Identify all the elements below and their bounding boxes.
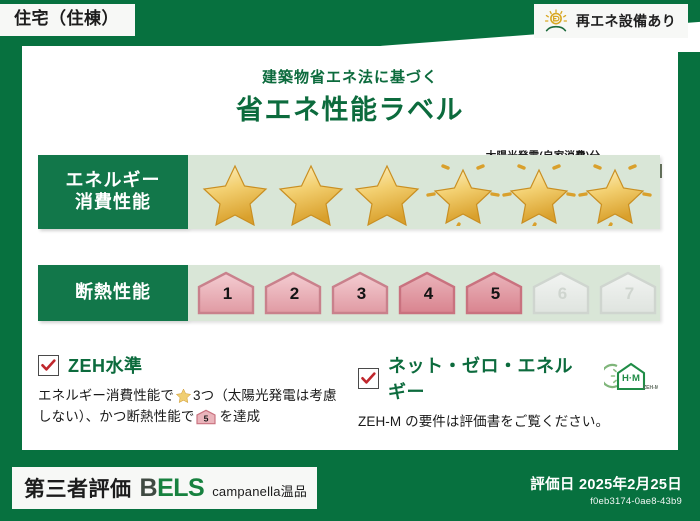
insulation-grade-6: 6 [531, 270, 594, 316]
insulation-performance-value-cell: 1 2 3 4 [188, 265, 660, 321]
evaluation-date: 評価日 2025年2月25日 [530, 473, 682, 494]
insulation-grade-scale: 1 2 3 4 [188, 270, 661, 316]
insulation-grade-7: 7 [598, 270, 661, 316]
checkbox-zeh-standard[interactable] [38, 355, 59, 376]
criterion-zeh-standard: ZEH水準 エネルギー消費性能で3つ（太陽光発電は考慮しない）、かつ断熱性能で5… [38, 352, 348, 428]
grade-number: 3 [330, 284, 393, 304]
bels-logo-b: B [140, 474, 158, 502]
svg-text:5: 5 [204, 413, 209, 423]
criterion-zeh-header: ZEH水準 [38, 352, 348, 378]
energy-key-line2: 消費性能 [66, 192, 161, 214]
grade-number: 2 [263, 284, 326, 304]
insulation-grade-4: 4 [397, 270, 460, 316]
renewable-badge-label: 再エネ設備あり [576, 11, 676, 31]
star-6-solar [578, 158, 652, 226]
star-5-solar [502, 158, 576, 226]
star-2 [274, 158, 348, 226]
star-rating [188, 158, 652, 226]
criterion-nze-title: ネット・ゼロ・エネルギー [388, 352, 591, 404]
zeh-desc-post: を達成 [219, 409, 260, 424]
energy-performance-label-cell: エネルギー 消費性能 [38, 155, 188, 229]
criterion-zeh-description: エネルギー消費性能で3つ（太陽光発電は考慮しない）、かつ断熱性能で5を達成 [38, 386, 348, 428]
star-3 [350, 158, 424, 226]
insulation-grade-5: 5 [464, 270, 527, 316]
check-icon [41, 359, 56, 372]
third-party-label: 第三者評価 [24, 473, 132, 503]
insulation-grade-3: 3 [330, 270, 393, 316]
label-subtitle: 建築物省エネ法に基づく [0, 66, 700, 87]
owner-name: campanella温品 [212, 481, 307, 500]
checkbox-net-zero-energy[interactable] [358, 368, 379, 389]
grade-number: 5 [464, 284, 527, 304]
bels-logo: BELS [140, 474, 205, 503]
grade-number: 1 [196, 284, 259, 304]
grade-number: 6 [531, 284, 594, 304]
inline-star-icon [175, 387, 192, 403]
energy-performance-label: 住宅（住棟） 再エネ設備あり 建築物省エネ法に基づく 省エネ性能ラベル 太陽光発… [0, 0, 700, 521]
energy-performance-value-cell [188, 155, 660, 229]
grade-number: 4 [397, 284, 460, 304]
bels-logo-els: ELS [157, 474, 204, 502]
sun-solar-icon [543, 9, 569, 33]
zeh-m-logo-caption: ZEH-M [643, 385, 658, 391]
evaluation-meta: 評価日 2025年2月25日 f0eb3174-0ae8-43b9 [530, 473, 682, 507]
star-4-solar [426, 158, 500, 226]
evaluation-date-value: 2025年2月25日 [579, 477, 682, 493]
insulation-grade-1: 1 [196, 270, 259, 316]
grade-number: 7 [598, 284, 661, 304]
criterion-nze-description: ZEH-M の要件は評価書をご覧ください。 [358, 412, 658, 433]
building-type-label: 住宅（住棟） [14, 9, 119, 28]
criterion-net-zero-energy: ネット・ゼロ・エネルギー H·M ZEH-M ZEH-M の要件は評価書をご覧く… [358, 352, 658, 433]
check-icon [361, 372, 376, 385]
star-1 [198, 158, 272, 226]
energy-key-line1: エネルギー [66, 170, 161, 192]
criterion-nze-header: ネット・ゼロ・エネルギー H·M ZEH-M [358, 352, 658, 404]
evaluation-date-label: 評価日 [530, 477, 574, 493]
renewable-equipment-badge: 再エネ設備あり [534, 4, 688, 38]
energy-performance-row: エネルギー 消費性能 [38, 155, 660, 229]
evaluation-uid: f0eb3174-0ae8-43b9 [530, 496, 682, 507]
criterion-zeh-title: ZEH水準 [68, 352, 143, 378]
insulation-grade-2: 2 [263, 270, 326, 316]
insulation-performance-label-cell: 断熱性能 [38, 265, 188, 321]
zeh-m-logo-text: H·M [622, 373, 640, 384]
zeh-m-logo: H·M ZEH-M [604, 360, 658, 397]
third-party-evaluation-tab: 第三者評価 BELS campanella温品 [12, 467, 317, 509]
zeh-desc-pre: エネルギー消費性能で [38, 388, 174, 403]
inline-house-badge-icon: 5 [196, 409, 217, 425]
building-type-tab: 住宅（住棟） [0, 4, 135, 36]
label-title: 省エネ性能ラベル [0, 88, 700, 127]
insulation-performance-row: 断熱性能 [38, 265, 660, 321]
